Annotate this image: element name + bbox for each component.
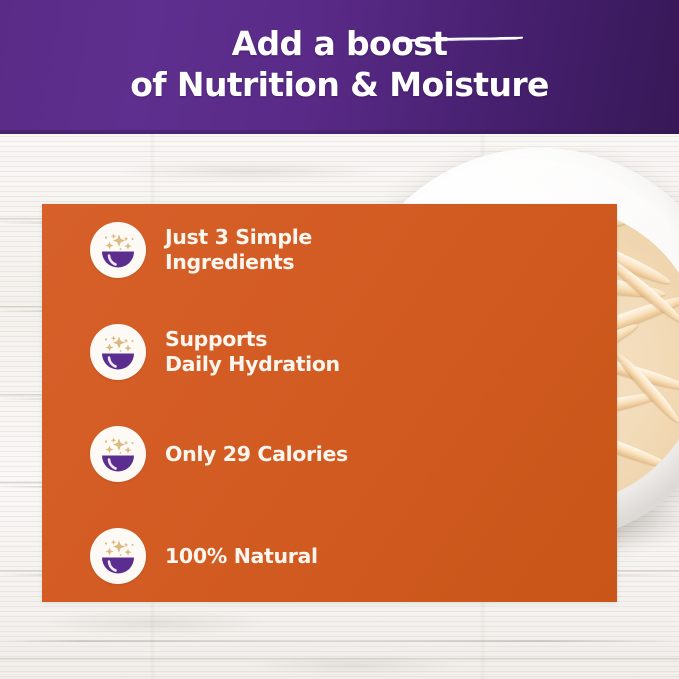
header-banner: Add a boost of Nutrition & Moisture: [0, 0, 679, 134]
feature-item-natural: 100% Natural: [90, 528, 390, 584]
bowl-sparkle-icon: [90, 222, 146, 278]
bowl-sparkle-icon: [90, 426, 146, 482]
feature-label: 100% Natural: [165, 544, 318, 569]
feature-item-calories: Only 29 Calories: [90, 426, 390, 482]
page-title-line-1: Add a boost: [232, 24, 448, 64]
wood-grain-smudge: [250, 655, 460, 675]
wood-grain-smudge: [430, 172, 630, 190]
feature-label: Supports Daily Hydration: [165, 327, 340, 377]
page-title-line-2: of Nutrition & Moisture: [130, 64, 549, 106]
wood-grain-smudge: [120, 160, 380, 182]
feature-list: Just 3 Simple Ingredients: [90, 222, 390, 584]
wood-plank-seam: [0, 640, 679, 642]
wood-grain-smudge: [40, 610, 270, 636]
product-feature-graphic: Add a boost of Nutrition & Moisture: [0, 0, 679, 679]
feature-label: Just 3 Simple Ingredients: [165, 225, 312, 275]
feature-panel: Just 3 Simple Ingredients: [42, 204, 617, 602]
feature-label: Only 29 Calories: [165, 442, 348, 467]
feature-item-simple-ingredients: Just 3 Simple Ingredients: [90, 222, 390, 278]
bowl-sparkle-icon: [90, 324, 146, 380]
feature-item-daily-hydration: Supports Daily Hydration: [90, 324, 390, 380]
bowl-sparkle-icon: [90, 528, 146, 584]
